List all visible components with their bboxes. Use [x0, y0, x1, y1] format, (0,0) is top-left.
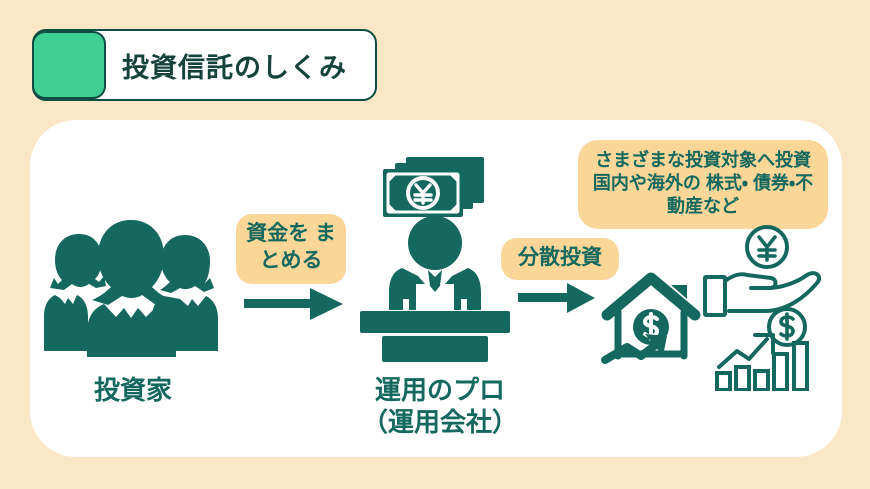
- fund-manager-desk-icon: [356, 214, 514, 364]
- stage-label-professional: 運用のプロ （運用会社）: [340, 375, 540, 438]
- hand-yen-coin-icon: [703, 225, 828, 317]
- badge-pool-funds: 資金を まとめる: [236, 214, 346, 284]
- title-color-swatch: [32, 31, 106, 99]
- yen-banknotes-icon: [381, 155, 486, 221]
- bar-chart-growth-icon: [715, 305, 820, 391]
- page-title: 投資信託のしくみ: [108, 46, 375, 85]
- house-dollar-icon: [601, 268, 701, 368]
- badge-investment-targets: さまざまな投資対象へ投資 国内や海外の 株式・ 債券・不動産など: [578, 140, 828, 229]
- page-title-bar: 投資信託のしくみ: [32, 29, 377, 101]
- investor-group-icon: [42, 216, 220, 358]
- arrow-right-icon: [518, 281, 596, 315]
- arrow-right-icon: [244, 286, 344, 322]
- stage-label-investors: 投資家: [48, 375, 218, 407]
